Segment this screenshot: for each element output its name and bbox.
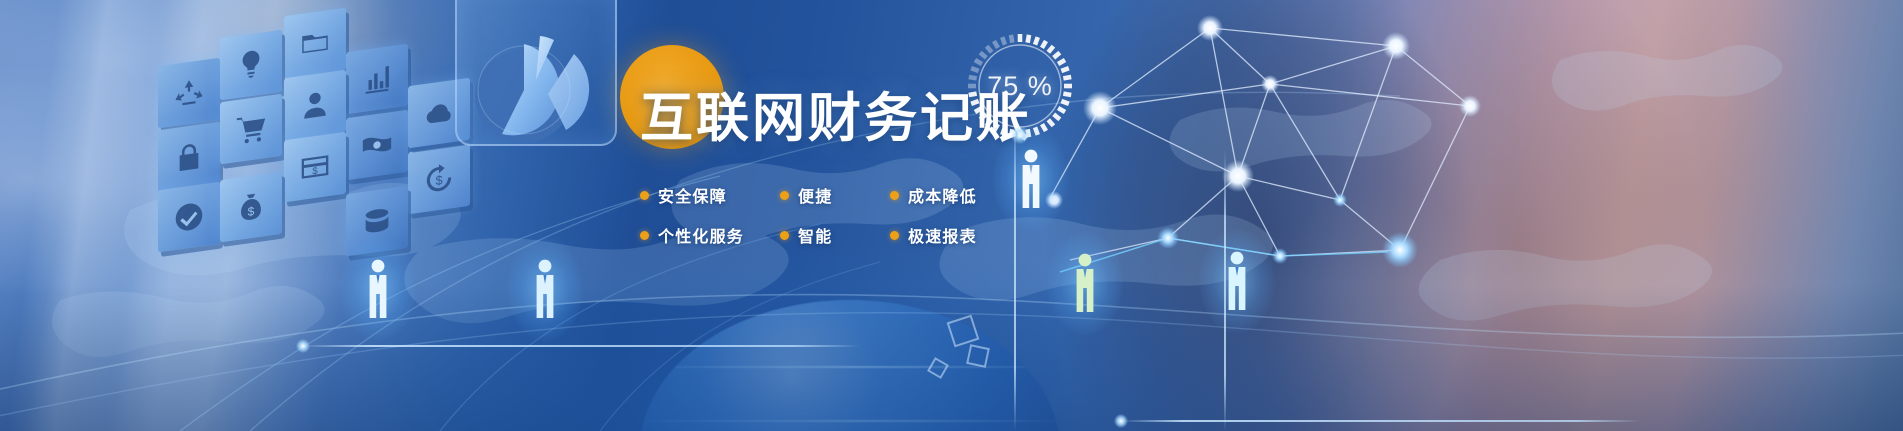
horizontal-rail <box>1120 420 1640 422</box>
rail-glow-dot <box>296 339 310 353</box>
feature-label: 个性化服务 <box>658 223 744 247</box>
network-node-graph <box>1040 0 1600 288</box>
person-figure-icon <box>1070 252 1100 314</box>
bullet-dot-icon <box>780 191 789 200</box>
person-figure-icon <box>1222 250 1252 312</box>
decor-square <box>966 344 990 368</box>
credit-card-icon: $ <box>284 132 346 203</box>
feature-item: 个性化服务 <box>640 223 780 247</box>
feature-label: 智能 <box>798 223 832 247</box>
check-circle-icon <box>158 182 220 253</box>
bullet-dot-icon <box>640 231 649 240</box>
bullet-dot-icon <box>640 191 649 200</box>
lock-icon <box>158 122 220 193</box>
feature-item: 极速报表 <box>890 223 977 247</box>
lightbulb-icon <box>220 30 282 101</box>
feature-list: 安全保障 便捷 成本降低 个性化服务 智能 <box>640 183 1000 247</box>
feature-item: 成本降低 <box>890 183 977 207</box>
feature-label: 便捷 <box>798 183 832 207</box>
bullet-dot-icon <box>890 191 899 200</box>
person-figure-icon <box>363 258 393 320</box>
icon-cube-cluster: $ $ $ <box>150 0 450 246</box>
bullet-dot-icon <box>780 231 789 240</box>
person-icon <box>284 70 346 141</box>
feature-row: 个性化服务 智能 极速报表 <box>640 223 1000 247</box>
svg-text:$: $ <box>435 172 442 188</box>
money-bag-icon: $ <box>220 172 282 243</box>
pie-chart <box>462 4 610 144</box>
bar-chart-icon <box>346 44 408 115</box>
feature-label: 极速报表 <box>908 223 977 247</box>
svg-text:$: $ <box>248 204 255 219</box>
feature-item: 智能 <box>780 223 890 247</box>
feature-item: 安全保障 <box>640 183 780 207</box>
globe-latitude-lines <box>640 300 1060 431</box>
folder-icon <box>284 8 346 79</box>
feature-item: 便捷 <box>780 183 890 207</box>
feature-row: 安全保障 便捷 成本降低 <box>640 183 1000 207</box>
svg-text:$: $ <box>312 166 318 178</box>
world-globe <box>640 300 1060 431</box>
rail-glow-dot <box>1114 414 1128 428</box>
shopping-cart-icon <box>220 94 282 165</box>
feature-label: 安全保障 <box>658 183 727 207</box>
marketing-banner: $ $ $ <box>0 0 1903 431</box>
person-figure-icon <box>1016 148 1046 210</box>
money-icon <box>346 110 408 181</box>
vertical-rail <box>1014 116 1016 431</box>
vertical-rail <box>1224 150 1226 431</box>
recycle-icon <box>158 58 220 129</box>
feature-label: 成本降低 <box>908 183 977 207</box>
person-figure-icon <box>530 258 560 320</box>
horizontal-rail <box>300 345 860 347</box>
refresh-dollar-icon: $ <box>408 144 470 215</box>
bullet-dot-icon <box>890 231 899 240</box>
